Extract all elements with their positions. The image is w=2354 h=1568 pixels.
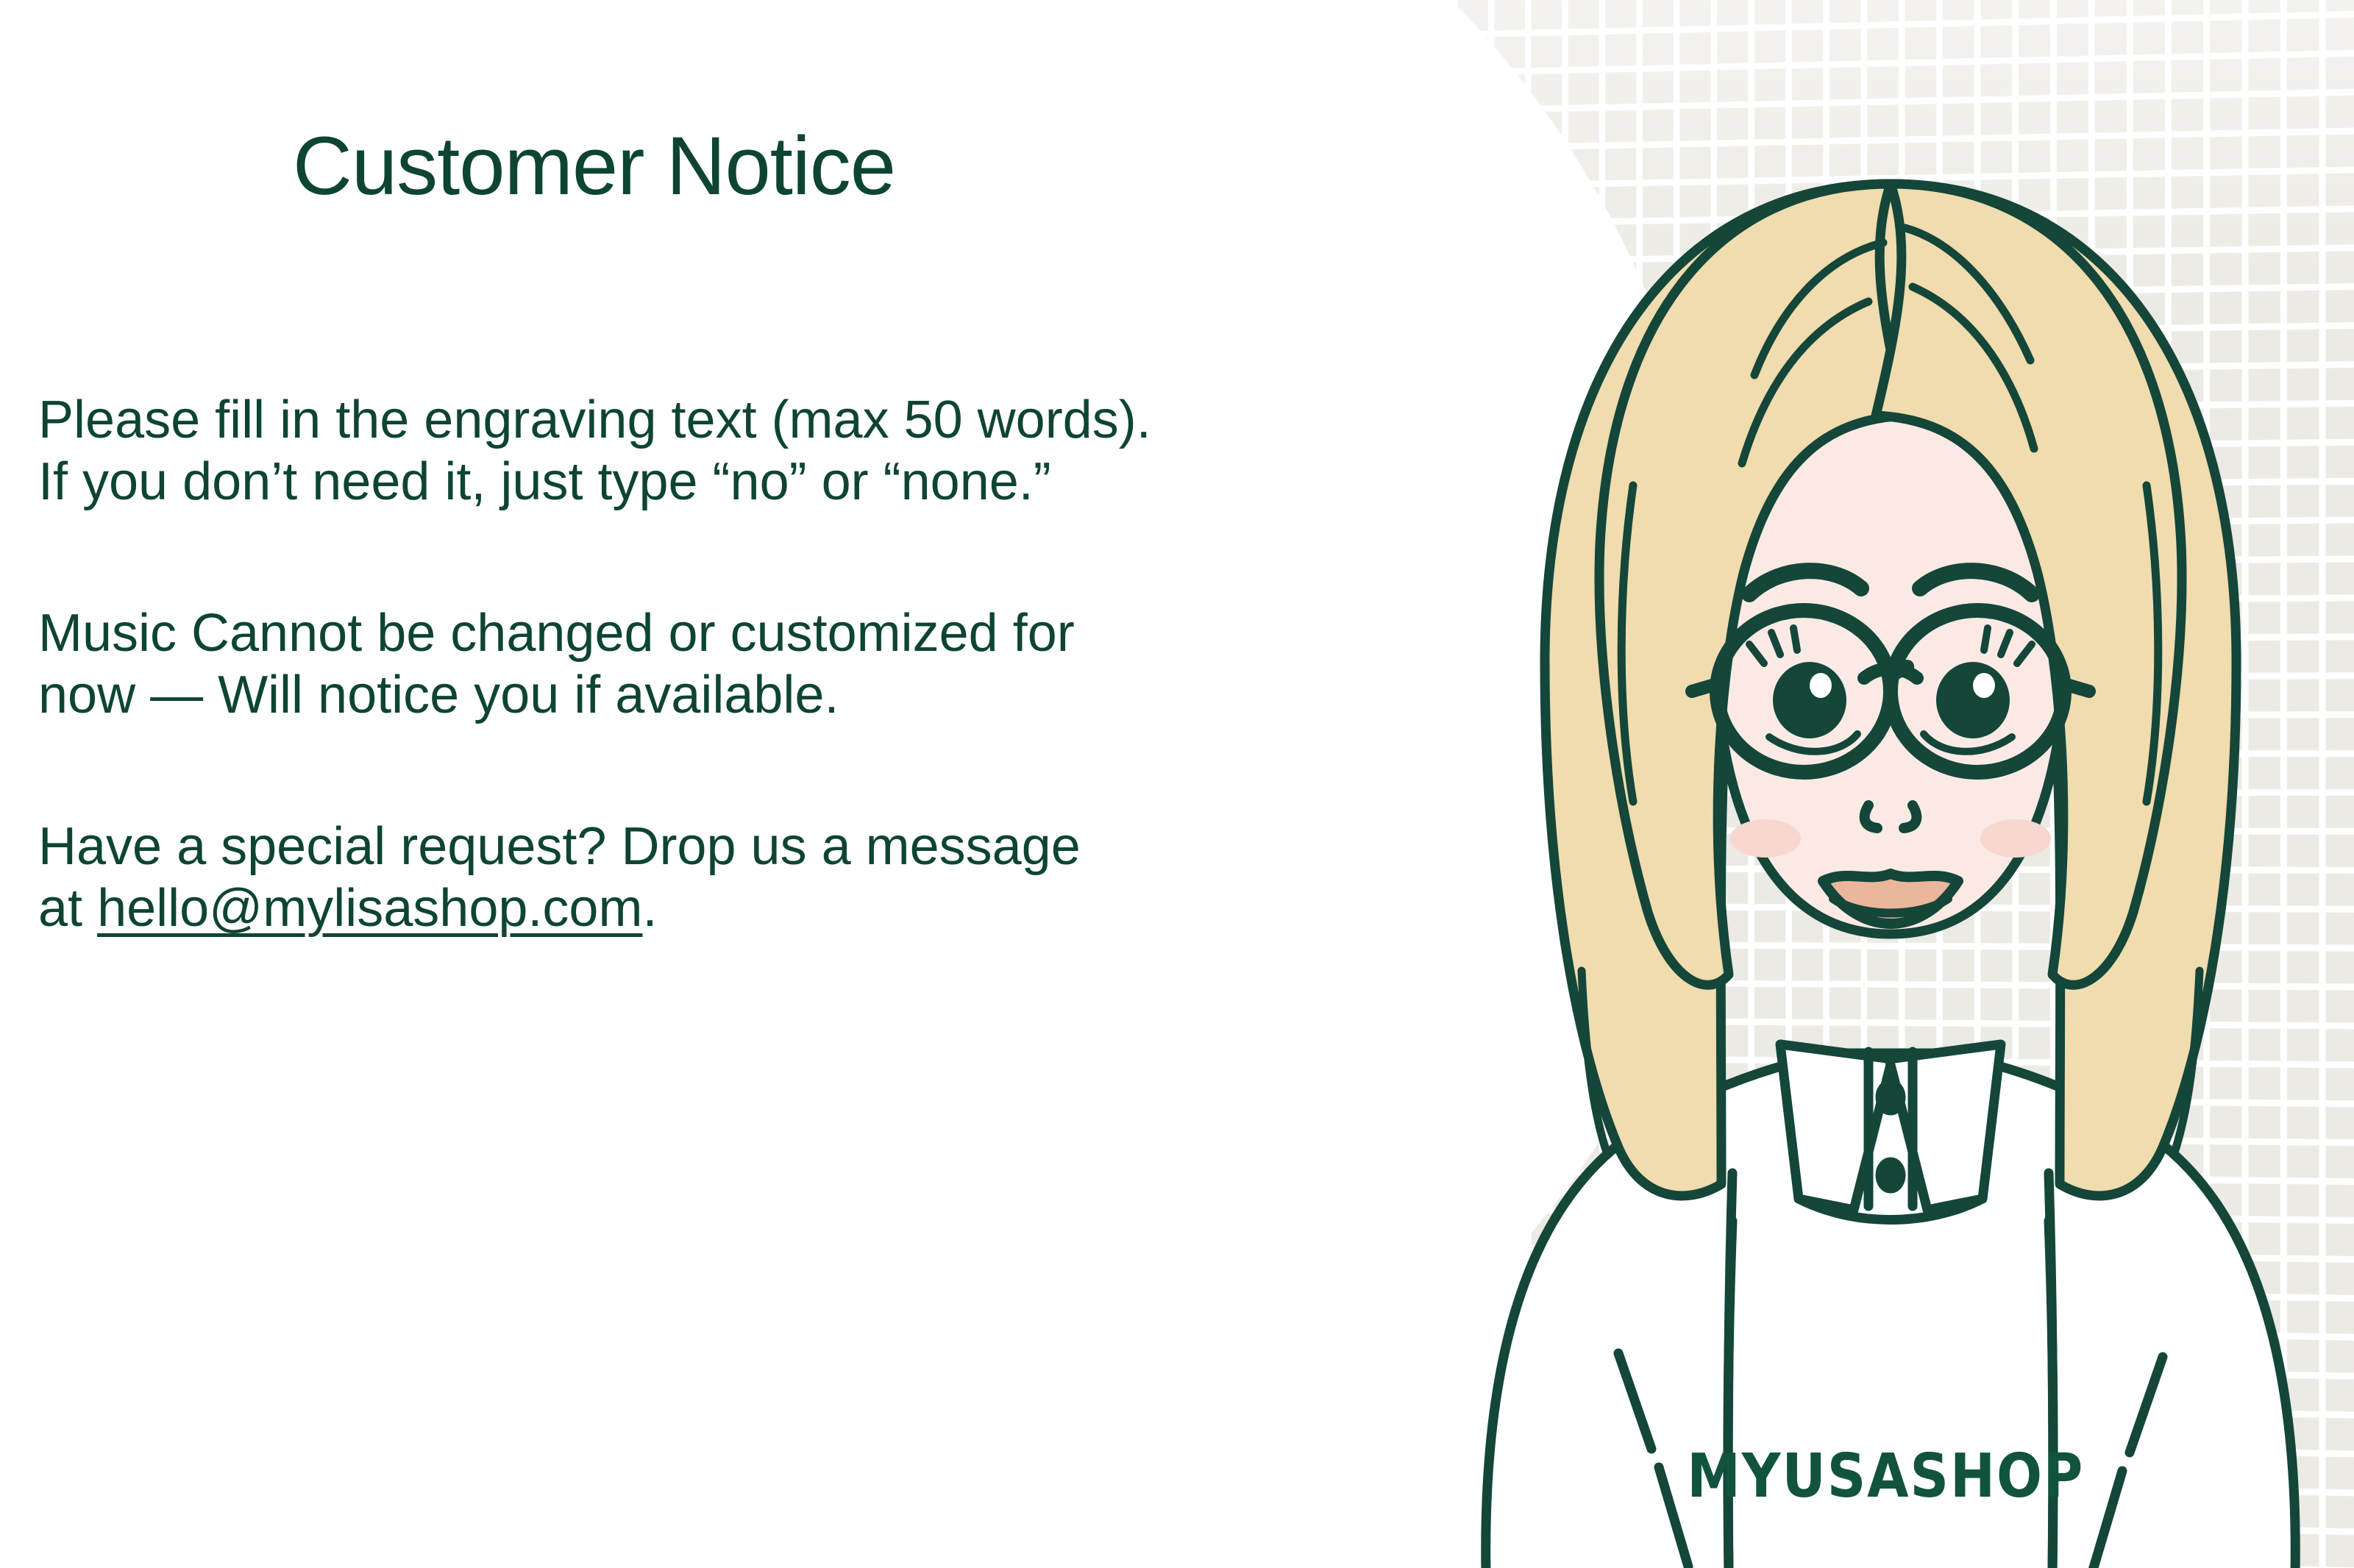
music-line-2: now — Will notice you if available. [38, 665, 1075, 727]
apron-seam-right [2049, 1221, 2053, 1568]
paragraph-music: Music Cannot be changed or customized fo… [38, 603, 1075, 726]
paragraph-engraving: Please fill in the engraving text (max 5… [38, 390, 1151, 513]
eye-left [1773, 662, 1846, 738]
apron-seam-left [1728, 1221, 1732, 1568]
shop-assistant-avatar [1398, 103, 2354, 1568]
contact-line-1: Have a special request? Drop us a messag… [38, 816, 1081, 878]
engraving-line-2: If you don’t need it, just type “no” or … [38, 452, 1151, 513]
glasses-temple-right [2064, 684, 2089, 691]
shirt-button-top [1880, 1084, 1901, 1111]
eye-left-highlight [1810, 673, 1832, 698]
page-title: Customer Notice [293, 125, 895, 207]
apron-logo: MYUSASHOP [1687, 1440, 2084, 1511]
contact-suffix: . [642, 879, 657, 938]
notice-text-block: Customer Notice Please fill in the engra… [0, 0, 1427, 1568]
contact-line-2: at hello@mylisashop.com. [38, 878, 1081, 940]
shirt-button-bottom [1880, 1162, 1901, 1189]
eye-right [1936, 662, 2010, 738]
blush-left [1730, 819, 1801, 858]
contact-email-link[interactable]: hello@mylisashop.com [97, 879, 642, 938]
eye-right-highlight [1973, 673, 1995, 698]
glasses-temple-left [1692, 684, 1717, 691]
engraving-line-1: Please fill in the engraving text (max 5… [38, 390, 1151, 452]
blush-right [1980, 819, 2051, 858]
notice-banner: MYUSASHOP Customer Notice Please fill in… [0, 0, 2354, 1568]
paragraph-contact: Have a special request? Drop us a messag… [38, 816, 1081, 939]
music-line-1: Music Cannot be changed or customized fo… [38, 603, 1075, 665]
contact-prefix: at [38, 879, 97, 938]
